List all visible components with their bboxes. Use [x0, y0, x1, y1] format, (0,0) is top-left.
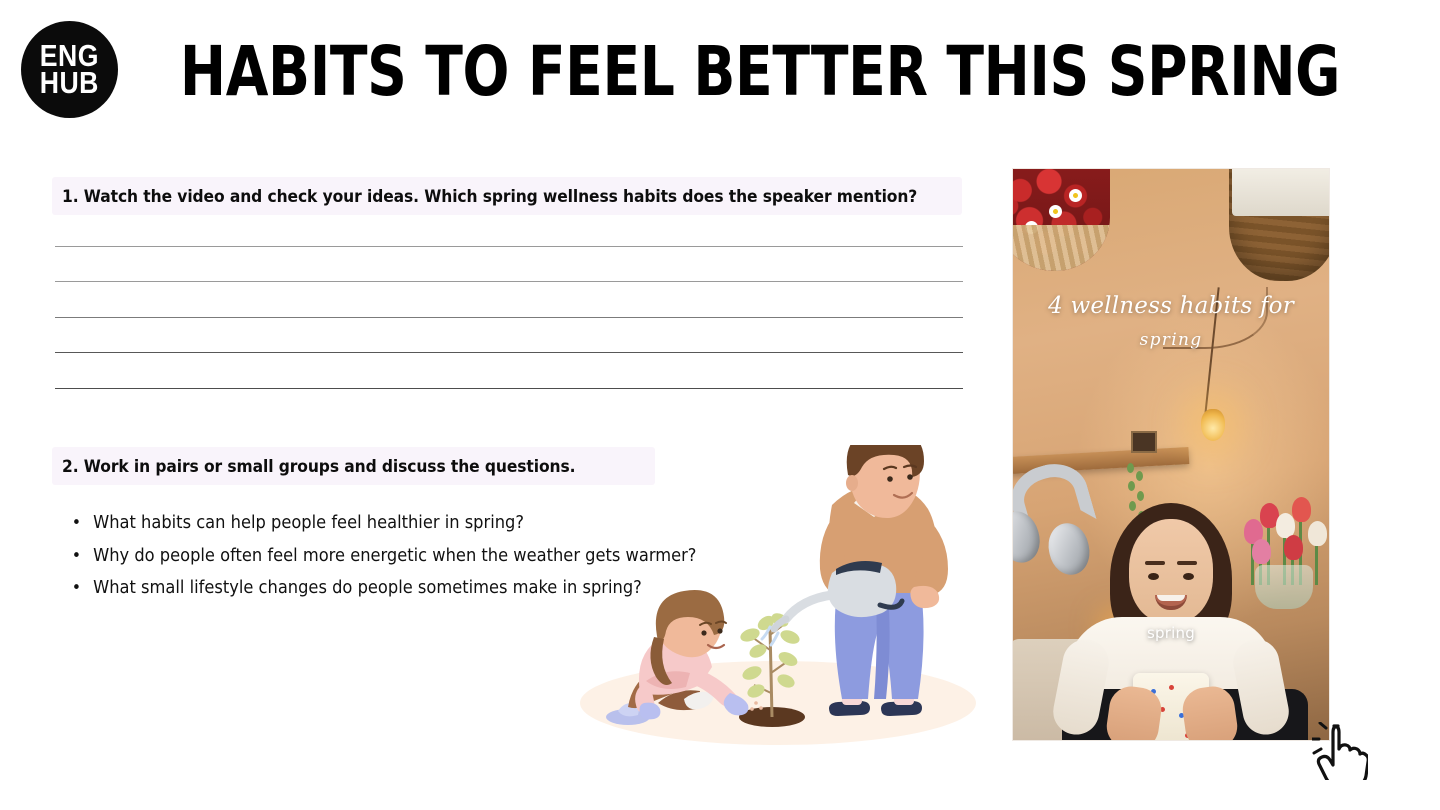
- daisy-icon: [1049, 205, 1062, 218]
- pendant-lamp-icon: [1201, 409, 1225, 441]
- exercise-2-heading: 2. Work in pairs or small groups and dis…: [52, 447, 655, 485]
- answer-line-1[interactable]: [55, 246, 963, 247]
- video-thumbnail[interactable]: 4 wellness habits for spring spring: [1012, 168, 1330, 741]
- answer-line-5[interactable]: [55, 388, 963, 389]
- video-overlay-title: 4 wellness habits for: [1013, 293, 1329, 319]
- exercise-1-heading-text: 1. Watch the video and check your ideas.…: [62, 187, 917, 206]
- enghub-logo: ENG HUB: [21, 21, 118, 118]
- wall-picture-frame: [1131, 431, 1157, 453]
- video-scene: [1013, 169, 1329, 740]
- daisy-icon: [1025, 221, 1038, 234]
- answer-lines[interactable]: [55, 246, 963, 389]
- exercise-2-heading-text: 2. Work in pairs or small groups and dis…: [62, 457, 575, 476]
- strawberry-basket: [1012, 168, 1110, 271]
- answer-line-2[interactable]: [55, 281, 963, 282]
- logo-line-hub: HUB: [40, 70, 99, 97]
- answer-line-4[interactable]: [55, 352, 963, 353]
- video-caption: spring: [1013, 624, 1329, 642]
- daisy-icon: [1069, 189, 1082, 202]
- tap-hand-icon: [1312, 722, 1368, 780]
- video-presenter: [1056, 499, 1286, 741]
- worksheet-page: ENG HUB HABITS TO FEEL BETTER THIS SPRIN…: [0, 0, 1440, 810]
- page-title: HABITS TO FEEL BETTER THIS SPRING: [384, 26, 1136, 118]
- video-overlay-subtitle: spring: [1013, 330, 1329, 350]
- people-planting-tree-illustration: [580, 445, 990, 745]
- answer-line-3[interactable]: [55, 317, 963, 318]
- hanging-laundry-basket: [1229, 168, 1330, 281]
- exercise-1-heading: 1. Watch the video and check your ideas.…: [52, 177, 962, 215]
